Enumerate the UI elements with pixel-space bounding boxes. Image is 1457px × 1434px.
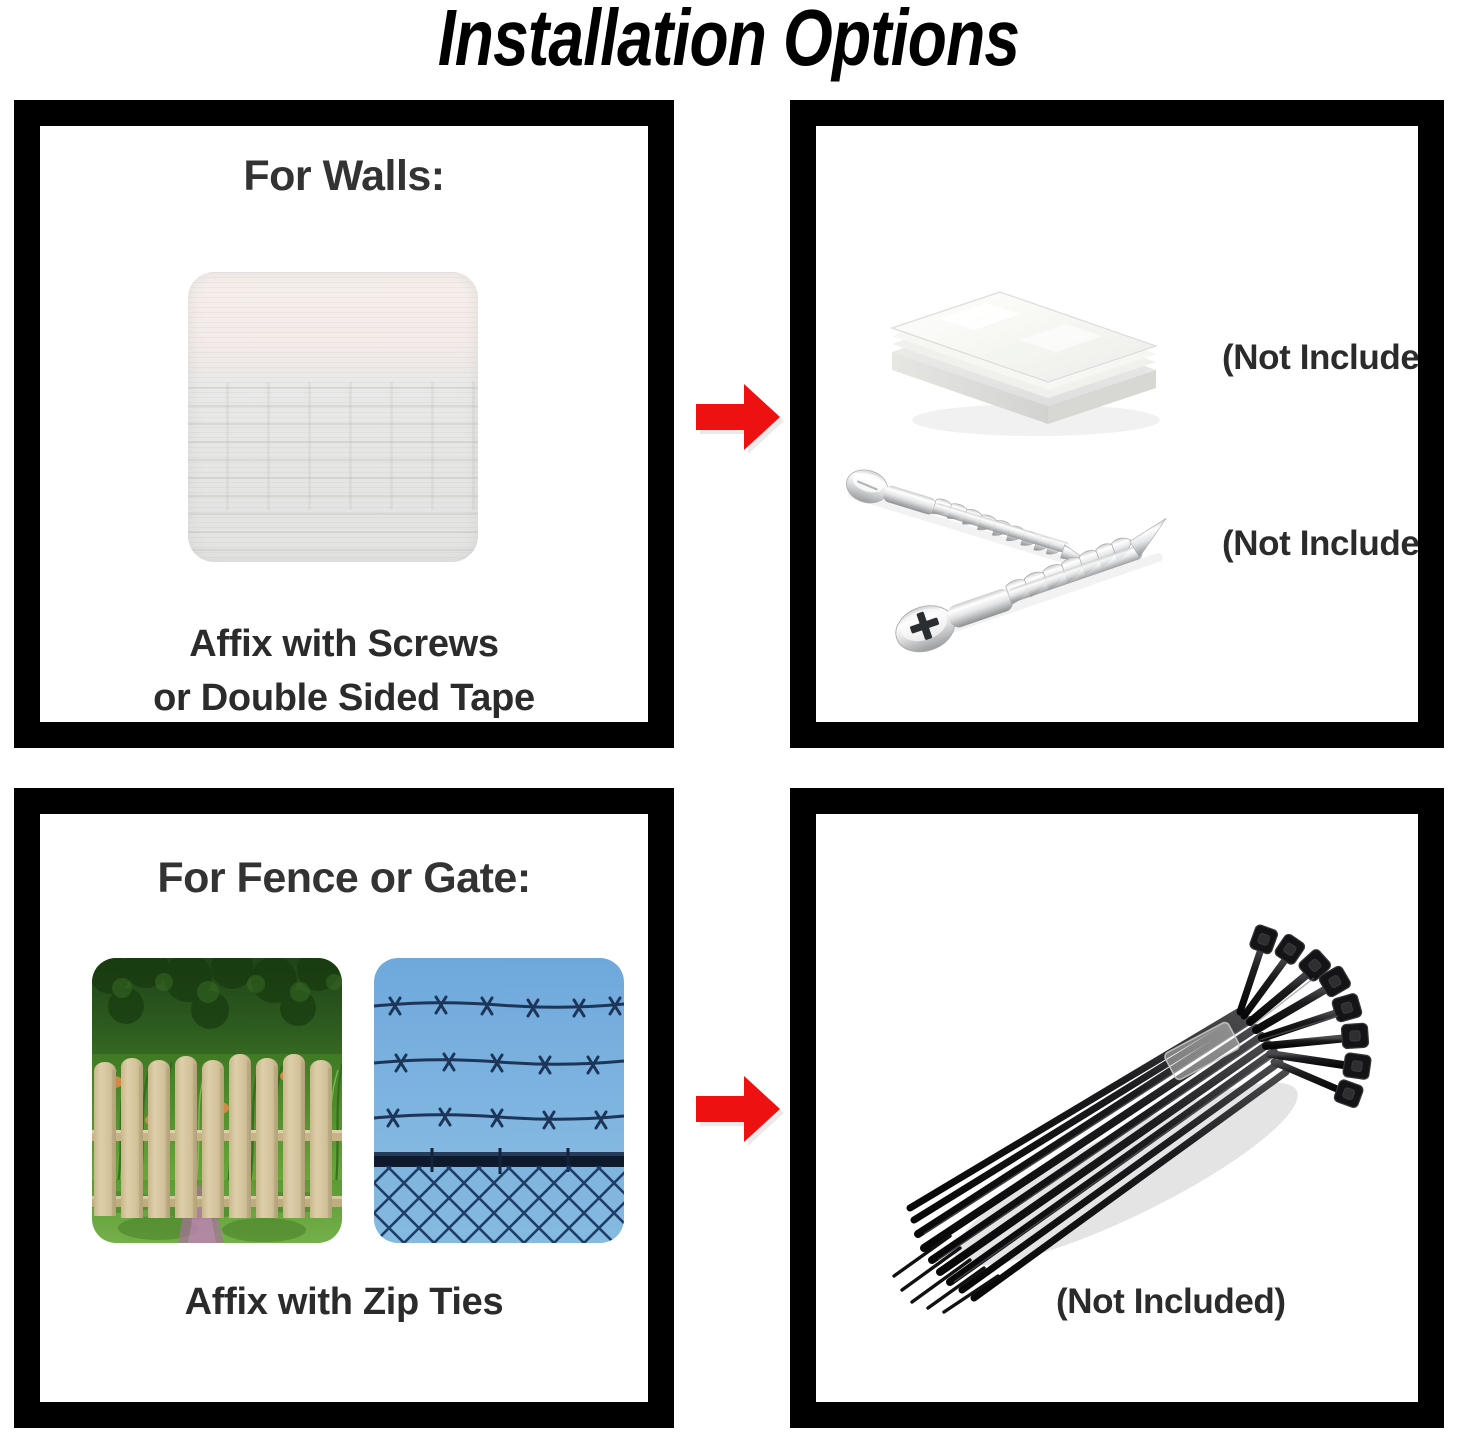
caption-fence-line1: Affix with Zip Ties [40, 1276, 648, 1330]
chain-link-barbed-wire-photo [374, 958, 624, 1243]
panel-wall-hardware-inner: (Not Included) [816, 126, 1418, 722]
panel-wall-hardware: (Not Included) [790, 100, 1444, 748]
panel-for-walls: For Walls: Affix with Screws or Double S… [14, 100, 674, 748]
panel-for-fence-inner: For Fence or Gate: [40, 814, 648, 1402]
heading-for-fence-or-gate: For Fence or Gate: [40, 854, 648, 903]
zipties-not-included-label: (Not Included) [1056, 1282, 1286, 1322]
heading-for-walls: For Walls: [40, 152, 648, 201]
white-brick-wall-image [188, 272, 478, 562]
wooden-picket-fence-photo [92, 958, 342, 1243]
double-sided-tape-stack-image [870, 244, 1190, 444]
right-arrow-icon-top [692, 378, 784, 456]
page-title: Installation Options [146, 0, 1312, 80]
tape-not-included-label: (Not Included) [1222, 338, 1418, 378]
panel-ziptie-hardware: (Not Included) [790, 788, 1444, 1428]
panel-for-fence-or-gate: For Fence or Gate: [14, 788, 674, 1428]
right-arrow-icon-bottom [692, 1070, 784, 1148]
brick-vertical-joints [188, 382, 478, 510]
panel-for-walls-inner: For Walls: Affix with Screws or Double S… [40, 126, 648, 722]
black-zip-tie-bundle-image [858, 916, 1378, 1316]
caption-walls-line1: Affix with Screws [40, 618, 648, 672]
caption-walls-line2: or Double Sided Tape [40, 672, 648, 722]
wood-screws-image [838, 450, 1238, 670]
panel-ziptie-hardware-inner: (Not Included) [816, 814, 1418, 1402]
installation-options-infographic: Installation Options For Walls: Affix wi… [0, 0, 1457, 1434]
screws-not-included-label: (Not Included) [1222, 524, 1418, 564]
